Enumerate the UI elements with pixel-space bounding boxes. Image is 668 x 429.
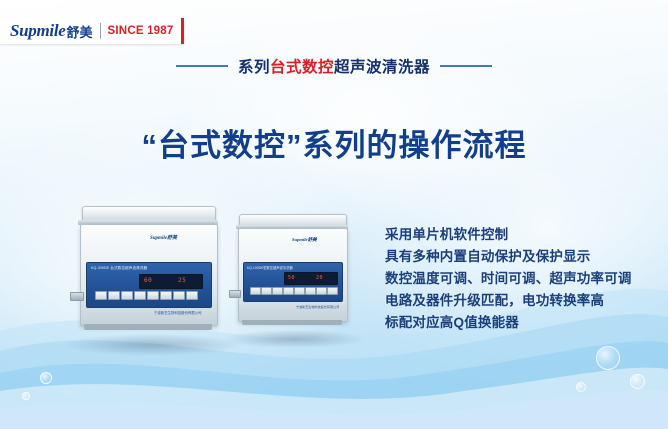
feature-list: 采用单片机软件控制 具有多种内置自动保护及保护显示 数控温度可调、时间可调、超声… <box>385 224 655 334</box>
subtitle-suffix: 超声波清洗器 <box>334 59 430 76</box>
machine-button[interactable] <box>305 287 316 295</box>
subtitle-row: 系列台式数控超声波清洗器 <box>0 55 668 77</box>
machine-button[interactable] <box>160 291 172 300</box>
machine-button[interactable] <box>272 287 283 295</box>
feature-item: 标配对应高Q值换能器 <box>385 312 655 334</box>
product-image-left: Supmile舒美 KQ-300DE 台式数控超声波清洗器 60 25 宁波新芝… <box>76 206 226 342</box>
feature-item: 电路及器件升级匹配，电功转换率高 <box>385 290 655 312</box>
logo-divider <box>100 23 101 39</box>
subtitle-prefix: 系列 <box>238 59 270 76</box>
machine-power-button[interactable] <box>327 287 338 295</box>
machine-button[interactable] <box>95 291 107 300</box>
machine-button[interactable] <box>316 287 327 295</box>
machine-footer-label: 宁波新芝生物科技股份有限公司 <box>154 310 201 315</box>
bubble-decoration <box>40 372 52 384</box>
feature-item: 数控温度可调、时间可调、超声功率可调 <box>385 268 655 290</box>
machine-button[interactable] <box>294 287 305 295</box>
machine-display: 60 25 <box>139 274 203 289</box>
slide-root: Supmile 舒美 SINCE 1987 系列台式数控超声波清洗器 “台式数控… <box>0 0 668 429</box>
machine-button[interactable] <box>173 291 185 300</box>
brand-since-text: SINCE 1987 <box>108 25 174 37</box>
machine-power-button[interactable] <box>186 291 198 300</box>
machine-brand-label: Supmile舒美 <box>292 237 317 243</box>
subtitle-rule-right <box>440 65 492 67</box>
machine-panel-title: KQ-100DE型数控超声波清洗器 <box>247 265 293 270</box>
machine-button[interactable] <box>121 291 133 300</box>
product-image-right: Supmile舒美 KQ-100DE型数控超声波清洗器 50 20 宁波新芝生物… <box>234 214 356 338</box>
machine-panel-title: KQ-300DE 台式数控超声波清洗器 <box>91 266 147 271</box>
machine-base <box>84 324 212 330</box>
machine-control-panel: KQ-100DE型数控超声波清洗器 50 20 <box>243 262 343 302</box>
page-title: “台式数控”系列的操作流程 <box>0 120 668 165</box>
machine-button[interactable] <box>147 291 159 300</box>
bubble-decoration <box>576 382 586 392</box>
bubble-decoration <box>22 392 30 400</box>
display-value-left: 60 <box>144 277 152 285</box>
machine-button[interactable] <box>250 287 261 295</box>
display-value-right: 20 <box>316 274 323 282</box>
machine-base <box>242 320 342 325</box>
bubble-decoration <box>596 346 620 370</box>
machine-button[interactable] <box>261 287 272 295</box>
machine-button[interactable] <box>134 291 146 300</box>
brand-logo-bar: Supmile 舒美 SINCE 1987 <box>0 18 184 44</box>
machine-button[interactable] <box>283 287 294 295</box>
feature-item: 采用单片机软件控制 <box>385 224 655 246</box>
subtitle-rule-left <box>176 65 228 67</box>
machine-control-panel: KQ-300DE 台式数控超声波清洗器 60 25 <box>86 262 212 308</box>
machine-display: 50 20 <box>284 272 338 285</box>
machine-footer-label: 宁波新芝生物科技股份有限公司 <box>296 304 339 309</box>
machine-drain-valve[interactable] <box>229 290 241 298</box>
subtitle-highlight: 台式数控 <box>270 59 334 76</box>
machine-drain-valve[interactable] <box>70 292 84 301</box>
brand-logo-chinese: 舒美 <box>67 22 93 41</box>
brand-logo-text: Supmile <box>10 21 66 41</box>
subtitle-text: 系列台式数控超声波清洗器 <box>238 55 430 77</box>
machine-brand-label: Supmile舒美 <box>150 234 177 241</box>
bubble-decoration <box>630 374 645 389</box>
display-value-left: 50 <box>288 274 295 282</box>
feature-item: 具有多种内置自动保护及保护显示 <box>385 246 655 268</box>
display-value-right: 25 <box>178 277 186 285</box>
machine-button[interactable] <box>108 291 120 300</box>
